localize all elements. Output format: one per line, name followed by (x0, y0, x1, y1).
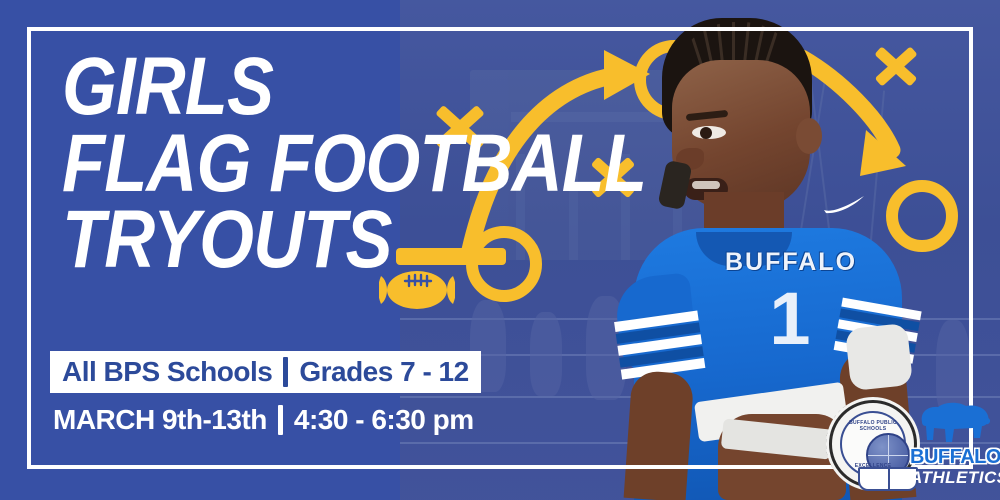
flag-football-tryouts-poster: BUFFALO 1 GIRLS FLAG FOOTBALL TRYOUTS Al… (0, 0, 1000, 500)
info-dates: MARCH 9th-13th (53, 404, 267, 436)
athletics-logo-buffalo: BUFFALO (910, 446, 996, 469)
football-icon (379, 264, 455, 316)
info-bar-schools-grades: All BPS Schools Grades 7 - 12 (50, 351, 481, 393)
player-arm (624, 370, 695, 500)
headline-line-3: TRYOUTS (62, 205, 595, 276)
nike-swoosh-icon (822, 196, 866, 214)
background-player-silhouette (530, 312, 562, 396)
player-jersey-team: BUFFALO (696, 248, 886, 277)
buffalo-athletics-logo: BUFFALO ATHLETICS (910, 398, 996, 490)
headline-block: GIRLS FLAG FOOTBALL TRYOUTS (62, 52, 682, 276)
headline-line-1: GIRLS (62, 52, 595, 123)
buffalo-public-schools-seal-logo: BUFFALO PUBLIC SCHOOLS EXCELLENCE (829, 400, 917, 488)
open-book-icon (858, 467, 918, 491)
info-bar-dates-times: MARCH 9th-13th 4:30 - 6:30 pm (53, 404, 474, 436)
player-ear (796, 118, 822, 154)
info-schools: All BPS Schools (62, 356, 272, 388)
bison-icon (914, 398, 994, 450)
athletics-logo-athletics: ATHLETICS (910, 468, 996, 488)
player-jersey-number: 1 (720, 282, 860, 356)
info-separator (278, 405, 283, 435)
info-separator (283, 357, 288, 387)
info-grades: Grades 7 - 12 (299, 356, 468, 388)
seal-inner-circle: BUFFALO PUBLIC SCHOOLS EXCELLENCE (840, 411, 906, 477)
info-times: 4:30 - 6:30 pm (294, 404, 474, 436)
player-eye (692, 126, 726, 139)
headline-line-2: FLAG FOOTBALL (62, 129, 595, 200)
seal-text-bottom: EXCELLENCE (842, 463, 904, 469)
seal-text-top: BUFFALO PUBLIC SCHOOLS (842, 420, 904, 432)
player-arm-sleeve (845, 323, 913, 391)
